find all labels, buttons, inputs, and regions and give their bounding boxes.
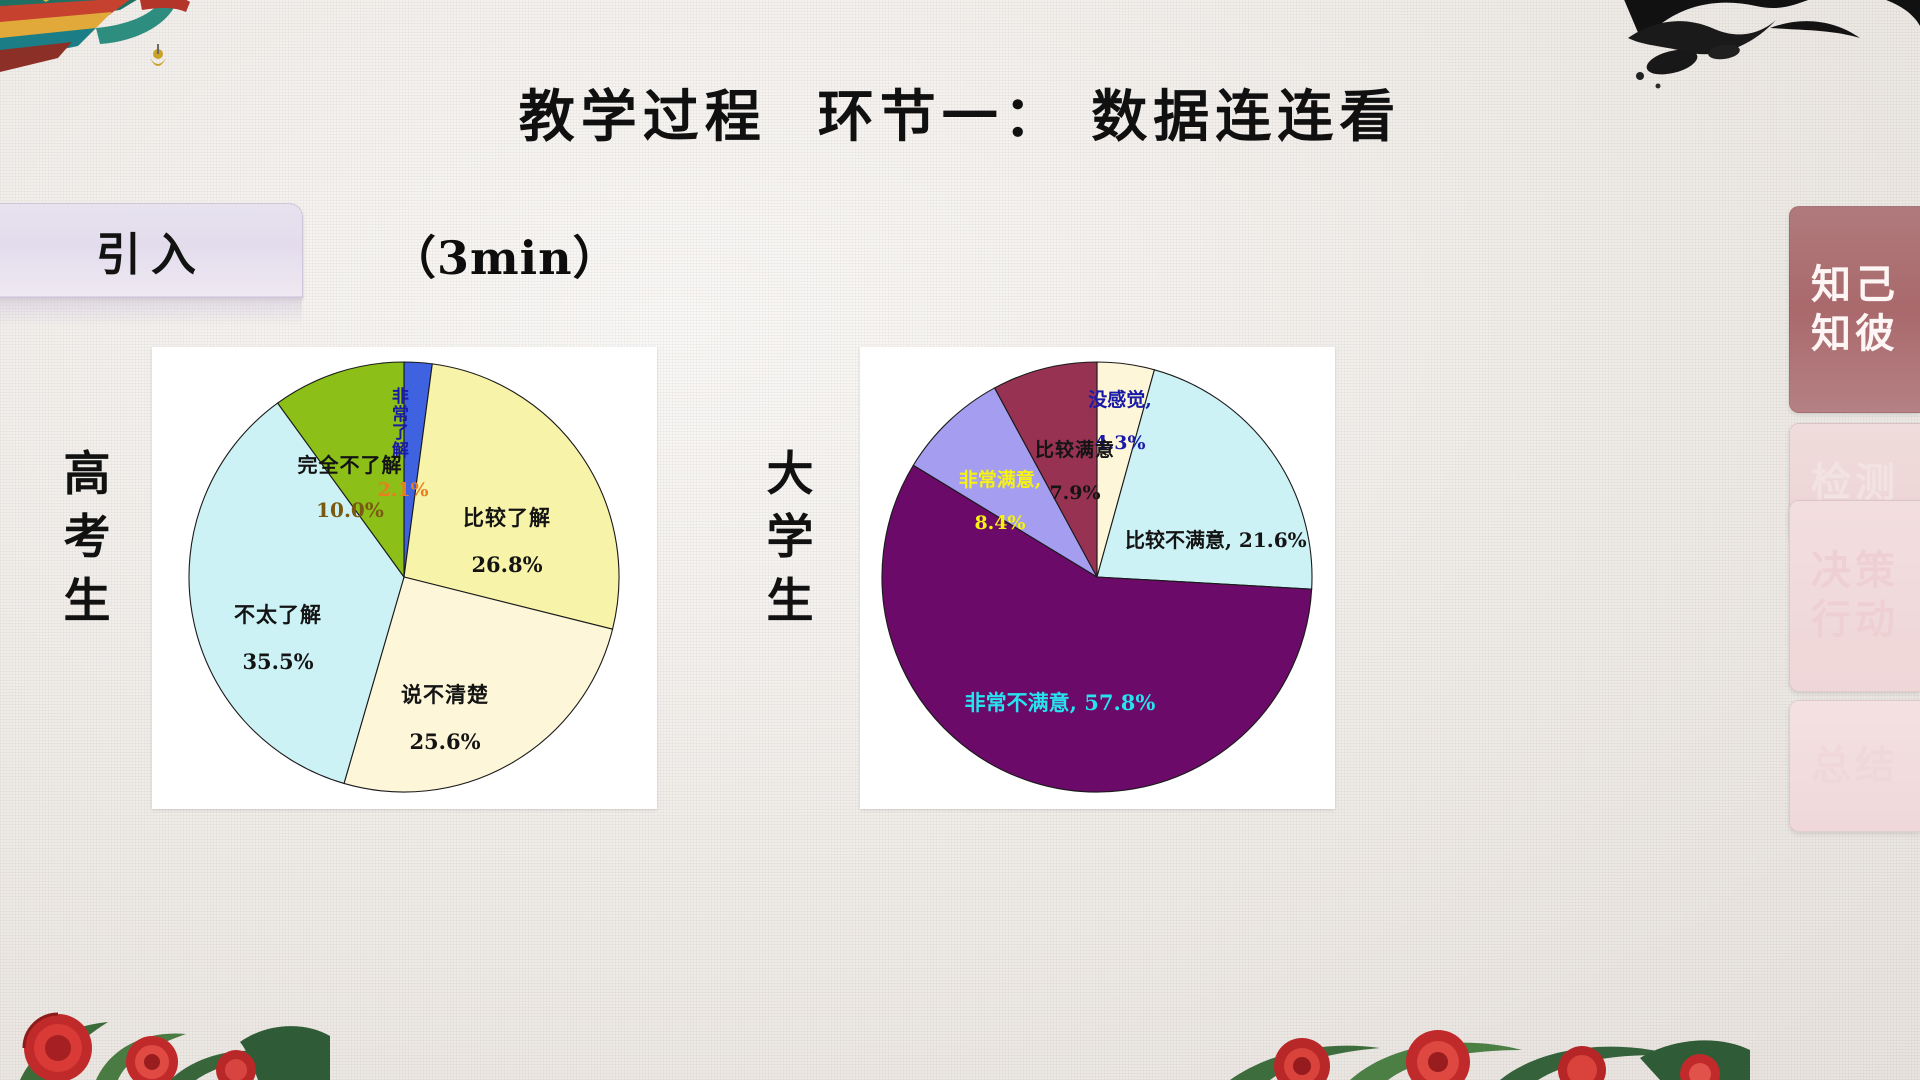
rtab-line: 知彼 (1811, 310, 1899, 359)
group-label-char: 高 (52, 443, 122, 506)
pie-chart-daxuesheng: 没感觉, 4.3% 比较不满意, 21.6% 非常不满意, 57.8% 非常满意… (860, 347, 1335, 809)
pie-chart-gaokaosheng: 非常了解 2.1% 比较了解 26.8% 说不清楚 25.6% 不太了解 35.… (152, 347, 657, 809)
tab-intro-shadow (0, 296, 302, 326)
group-label-char: 生 (755, 570, 825, 633)
group-label-char: 考 (52, 506, 122, 569)
rtab-line: 知己 (1811, 261, 1899, 310)
group-label-char: 学 (755, 506, 825, 569)
group-label-daxuesheng: 大 学 生 (755, 443, 825, 633)
rtab-line: 总结 (1811, 742, 1899, 791)
sidebar-item-zongjie[interactable]: 总结 (1789, 700, 1920, 832)
tab-intro[interactable]: 引入 (0, 203, 303, 298)
tab-intro-label: 引入 (96, 218, 206, 283)
slide-canvas: 教学过程 环节一： 数据连连看 引入 （3min） 高 考 生 大 学 生 知己… (0, 0, 1920, 1080)
rtab-line: 行动 (1811, 596, 1899, 645)
page-title: 教学过程 环节一： 数据连连看 (0, 72, 1920, 153)
group-label-char: 生 (52, 570, 122, 633)
sidebar-item-zhiji-zhibi[interactable]: 知己 知彼 (1789, 206, 1920, 413)
chart-panel-daxuesheng: 没感觉, 4.3% 比较不满意, 21.6% 非常不满意, 57.8% 非常满意… (860, 347, 1335, 809)
group-label-char: 大 (755, 443, 825, 506)
pie-svg-left (152, 347, 657, 809)
pie-svg-right (860, 347, 1335, 809)
peony-decoration-right (1230, 940, 1750, 1080)
peony-decoration-left (0, 930, 330, 1080)
duration-label: （3min） (390, 222, 620, 288)
rtab-line: 决策 (1811, 547, 1899, 596)
sidebar-item-juece-xingdong[interactable]: 决策 行动 (1789, 500, 1920, 692)
group-label-gaokaosheng: 高 考 生 (52, 443, 122, 633)
chart-panel-gaokaosheng: 非常了解 2.1% 比较了解 26.8% 说不清楚 25.6% 不太了解 35.… (152, 347, 657, 809)
